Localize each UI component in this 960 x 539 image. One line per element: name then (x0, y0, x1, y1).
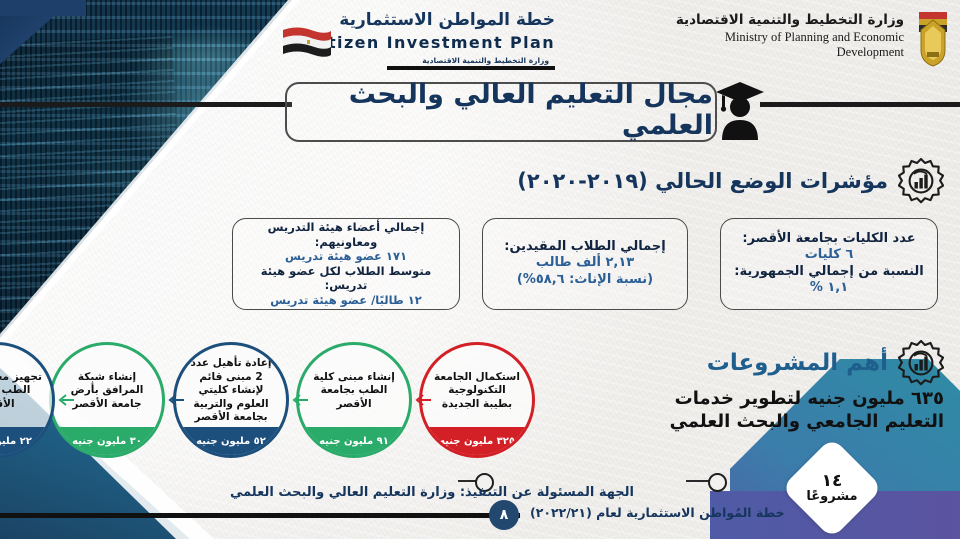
infographic-root: وزارة التخطيط والتنمية الاقتصادية Minist… (0, 0, 960, 539)
arrow-left-icon-1 (411, 393, 431, 407)
indicator-box-faculty: إجمالي أعضاء هيئة التدريس ومعاونيهم: ١٧١… (232, 218, 460, 310)
project-4-text: إنشاء شبكة المرافق بأرض جامعة الأقصر (52, 345, 162, 431)
colleges-value-1: ٦ كليات (805, 247, 854, 264)
indicators-row: عدد الكليات بجامعة الأقصر: ٦ كليات النسب… (0, 218, 960, 314)
page-number-badge: ٨ (489, 500, 519, 530)
indicator-box-colleges: عدد الكليات بجامعة الأقصر: ٦ كليات النسب… (720, 218, 938, 310)
project-2-text: إنشاء مبنى كلية الطب بجامعة الأقصر (299, 345, 409, 431)
project-1-text: استكمال الجامعة التكنولوجية بطيبة الجديد… (422, 345, 532, 431)
project-circle-science-education-faculties-rehab[interactable]: إعادة تأهيل عدد 2 مبنى قائم لإنشاء كليتي… (173, 342, 289, 458)
colleges-head-1: عدد الكليات بجامعة الأقصر: (742, 231, 915, 247)
colleges-head-2: النسبة من إجمالي الجمهورية: (734, 264, 923, 280)
students-value-2: (نسبة الإناث: ٥٨,٦%) (517, 272, 653, 289)
project-circle-technological-university-theba[interactable]: استكمال الجامعة التكنولوجية بطيبة الجديد… (419, 342, 535, 458)
page-title: مجال التعليم العالي والبحث العلمي (285, 82, 713, 138)
arrow-left-icon-3 (164, 393, 184, 407)
ministry-logo-block: وزارة التخطيط والتنمية الاقتصادية Minist… (660, 6, 960, 76)
plan-title-ar: خطة المواطن الاستثمارية (339, 10, 555, 30)
indicator-box-students: إجمالي الطلاب المقيدين: ٢,١٣ ألف طالب (ن… (482, 218, 688, 310)
faculty-head-2: متوسط الطلاب لكل عضو هيئة تدريس: (241, 264, 451, 293)
plan-subtitle: وزارة التخطيط والتنمية الاقتصادية (422, 56, 549, 65)
egypt-eagle-emblem-icon (912, 10, 954, 68)
project-3-text: إعادة تأهيل عدد 2 مبنى قائم لإنشاء كليتي… (176, 345, 286, 431)
main-title-band: مجال التعليم العالي والبحث العلمي (0, 80, 960, 142)
students-value-1: ٢,١٣ ألف طالب (536, 255, 634, 272)
responsible-authority: الجهة المسئولة عن التنفيذ: وزارة التعليم… (14, 485, 634, 500)
faculty-value-2: ١٢ طالبًا/ عضو هيئة تدريس (270, 293, 422, 308)
colleges-value-2: ١,١ % (810, 280, 848, 297)
ministry-name-en: Ministry of Planning and Economic Develo… (694, 30, 904, 60)
graduate-cap-person-icon (712, 76, 768, 140)
project-circle-medicine-labs-equipment[interactable]: تجهيز معامل كلية الطب بجامعة الأقصر ٢٢ م… (0, 342, 55, 458)
title-bar-left (0, 102, 292, 107)
project-3-cost: ٥٢ مليون جنيه (176, 427, 286, 455)
project-5-cost: ٢٢ مليون جنيه (0, 427, 52, 455)
faculty-value-1: ١٧١ عضو هيئة تدريس (285, 249, 407, 264)
egypt-flag-icon (281, 26, 333, 60)
navy-top-bar (0, 0, 86, 16)
arrow-left-icon-4 (54, 393, 74, 407)
students-head-1: إجمالي الطلاب المقيدين: (504, 239, 665, 255)
indicators-section-header: مؤشرات الوضع الحالي (٢٠١٩-٢٠٢٠) (517, 158, 944, 204)
ministry-name-ar: وزارة التخطيط والتنمية الاقتصادية (676, 12, 904, 28)
plan-rule (387, 66, 555, 70)
project-4-cost: ٣٠ مليون جنيه (52, 427, 162, 455)
faculty-head-1: إجمالي أعضاء هيئة التدريس ومعاونيهم: (241, 220, 451, 249)
indicators-section-title: مؤشرات الوضع الحالي (٢٠١٩-٢٠٢٠) (517, 169, 888, 193)
citizen-investment-plan-logo: خطة المواطن الاستثمارية Citizen Investme… (325, 8, 555, 76)
footer-plan-year: خطة المُواطن الاستثمارية لعام (٢٠٢٢/٢١) (530, 505, 830, 520)
project-1-cost: ٣٢٥ مليون جنيه (422, 427, 532, 455)
connector-knob-a (708, 473, 727, 492)
gear-chart-icon (898, 158, 944, 204)
project-2-cost: ٩١ مليون جنيه (299, 427, 409, 455)
plan-title-en: Citizen Investment Plan (308, 33, 555, 52)
badge-unit: مشروعًا (806, 490, 857, 504)
badge-number: ١٤ (822, 472, 843, 491)
project-5-text: تجهيز معامل كلية الطب بجامعة الأقصر (0, 345, 52, 431)
title-bar-right (760, 102, 960, 107)
projects-row: استكمال الجامعة التكنولوجية بطيبة الجديد… (0, 340, 960, 465)
projects-count-badge: ١٤ مشروعًا (781, 437, 883, 539)
project-circle-medicine-faculty-building[interactable]: إنشاء مبنى كلية الطب بجامعة الأقصر ٩١ مل… (296, 342, 412, 458)
arrow-left-icon-2 (288, 393, 308, 407)
footer-rule (0, 513, 520, 518)
